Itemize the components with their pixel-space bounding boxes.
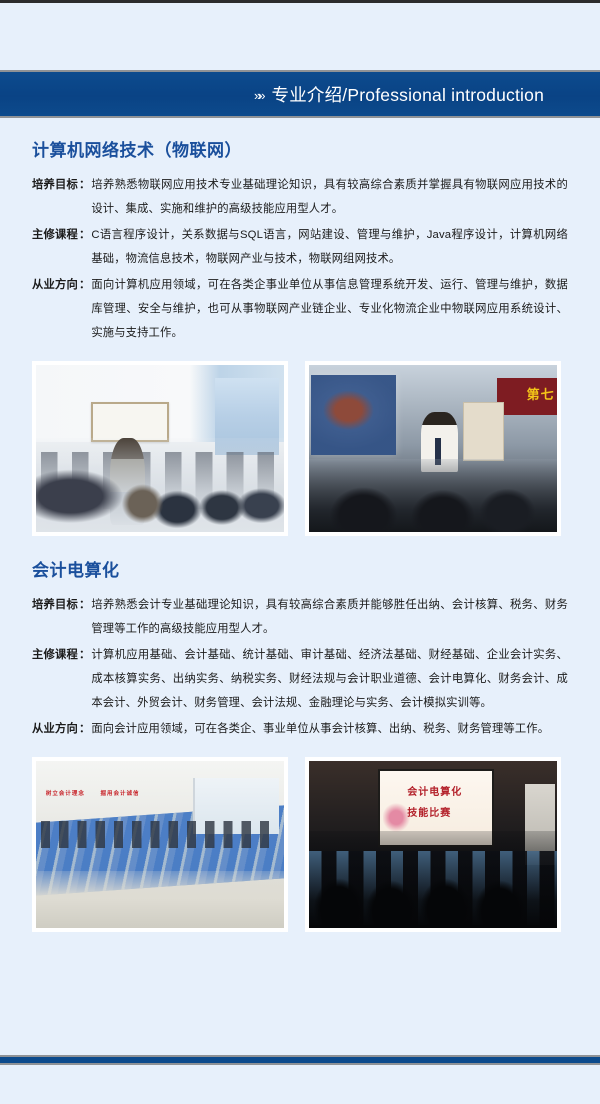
- wall-banner-text: 第七: [527, 384, 555, 403]
- section-fields: 培养目标 ： 培养熟悉物联网应用技术专业基础理论知识，具有较高综合素质并掌握具有…: [32, 173, 568, 345]
- field-label: 培养目标: [32, 173, 78, 197]
- photo-image: [36, 365, 284, 532]
- section-computer-network: 计算机网络技术（物联网） 培养目标 ： 培养熟悉物联网应用技术专业基础理论知识，…: [0, 116, 600, 345]
- accounting-skills-contest-photo: 会计电算化 技能比赛: [305, 757, 561, 932]
- photo-image: 会计电算化 技能比赛: [309, 761, 557, 928]
- field-label: 主修课程: [32, 643, 78, 667]
- field-colon: ：: [78, 717, 91, 741]
- screen-title-line2: 技能比赛: [407, 804, 451, 819]
- field-label: 从业方向: [32, 717, 78, 741]
- header-banner-wrapper: »» 专业介绍/Professional introduction: [0, 70, 600, 118]
- double-chevron-right-icon: »»: [254, 89, 262, 102]
- field-row: 培养目标 ： 培养熟悉会计专业基础理论知识，具有较高综合素质并能够胜任出纳、会计…: [32, 593, 568, 641]
- field-colon: ：: [78, 273, 91, 297]
- monitor-row-detail: [309, 851, 557, 924]
- section-title: 会计电算化: [32, 536, 568, 593]
- field-row: 从业方向 ： 面向计算机应用领域，可在各类企事业单位从事信息管理系统开发、运行、…: [32, 273, 568, 345]
- window-detail: [215, 378, 279, 455]
- accounting-lab-photo: 树立会计理念 掘用会计诚信: [32, 757, 288, 932]
- photo-row-computer-network: 第七: [0, 361, 600, 536]
- monitor-row-detail: [41, 821, 269, 848]
- instructor-lecture-photo: 第七: [305, 361, 561, 536]
- field-value: 面向计算机应用领域，可在各类企事业单位从事信息管理系统开发、运行、管理与维护，数…: [91, 273, 568, 345]
- field-value: 培养熟悉物联网应用技术专业基础理论知识，具有较高综合素质并掌握具有物联网应用技术…: [91, 173, 568, 221]
- computer-network-lab-photo: [32, 361, 288, 536]
- field-colon: ：: [78, 223, 91, 247]
- field-row: 主修课程 ： 计算机应用基础、会计基础、统计基础、审计基础、经济法基础、财经基础…: [32, 643, 568, 715]
- whiteboard-detail: [91, 402, 169, 443]
- field-colon: ：: [78, 593, 91, 617]
- header-banner: »» 专业介绍/Professional introduction: [0, 72, 600, 116]
- photo-image: 树立会计理念 掘用会计诚信: [36, 761, 284, 928]
- field-label: 从业方向: [32, 273, 78, 297]
- wall-banner-detail: 第七: [497, 378, 557, 415]
- field-row: 培养目标 ： 培养熟悉物联网应用技术专业基础理论知识，具有较高综合素质并掌握具有…: [32, 173, 568, 221]
- section-accounting: 会计电算化 培养目标 ： 培养熟悉会计专业基础理论知识，具有较高综合素质并能够胜…: [0, 536, 600, 741]
- section-fields: 培养目标 ： 培养熟悉会计专业基础理论知识，具有较高综合素质并能够胜任出纳、会计…: [32, 593, 568, 741]
- footer-bottom-divider: [0, 1063, 600, 1065]
- top-edge-rule: [0, 0, 600, 3]
- air-conditioner-detail: [525, 784, 555, 864]
- wall-slogan-right: 掘用会计诚信: [100, 789, 139, 797]
- page-content: 计算机网络技术（物联网） 培养目标 ： 培养熟悉物联网应用技术专业基础理论知识，…: [0, 116, 600, 932]
- field-row: 从业方向 ： 面向会计应用领域，可在各类企、事业单位从事会计核算、出纳、税务、财…: [32, 717, 568, 741]
- banner-content: »» 专业介绍/Professional introduction: [254, 82, 544, 107]
- section-title: 计算机网络技术（物联网）: [32, 116, 568, 173]
- monitor-row-detail: [41, 452, 279, 509]
- field-value: C语言程序设计，关系数据与SQL语言，网站建设、管理与维护，Java程序设计，计…: [91, 223, 568, 271]
- field-label: 培养目标: [32, 593, 78, 617]
- field-colon: ：: [78, 173, 91, 197]
- field-value: 面向会计应用领域，可在各类企、事业单位从事会计核算、出纳、税务、财务管理等工作。: [91, 717, 568, 741]
- standing-person-detail: [110, 438, 145, 525]
- field-row: 主修课程 ： C语言程序设计，关系数据与SQL语言，网站建设、管理与维护，Jav…: [32, 223, 568, 271]
- floor-detail: [46, 465, 110, 532]
- screen-title-line1: 会计电算化: [407, 783, 462, 798]
- banner-title: 专业介绍/Professional introduction: [272, 82, 545, 107]
- field-value: 培养熟悉会计专业基础理论知识，具有较高综合素质并能够胜任出纳、会计核算、税务、财…: [91, 593, 568, 641]
- field-value: 计算机应用基础、会计基础、统计基础、审计基础、经济法基础、财经基础、企业会计实务…: [91, 643, 568, 715]
- photo-image: 第七: [309, 365, 557, 532]
- field-label: 主修课程: [32, 223, 78, 247]
- brochure-page: »» 专业介绍/Professional introduction 计算机网络技…: [0, 0, 600, 1104]
- wall-slogan-left: 树立会计理念: [46, 789, 85, 797]
- projection-screen-detail: 会计电算化 技能比赛: [378, 769, 494, 846]
- field-colon: ：: [78, 643, 91, 667]
- footer-rule-wrapper: [0, 1055, 600, 1065]
- door-detail: [463, 402, 505, 461]
- photo-row-accounting: 树立会计理念 掘用会计诚信 会计电算化 技能比赛: [0, 757, 600, 932]
- necktie-detail: [435, 438, 441, 465]
